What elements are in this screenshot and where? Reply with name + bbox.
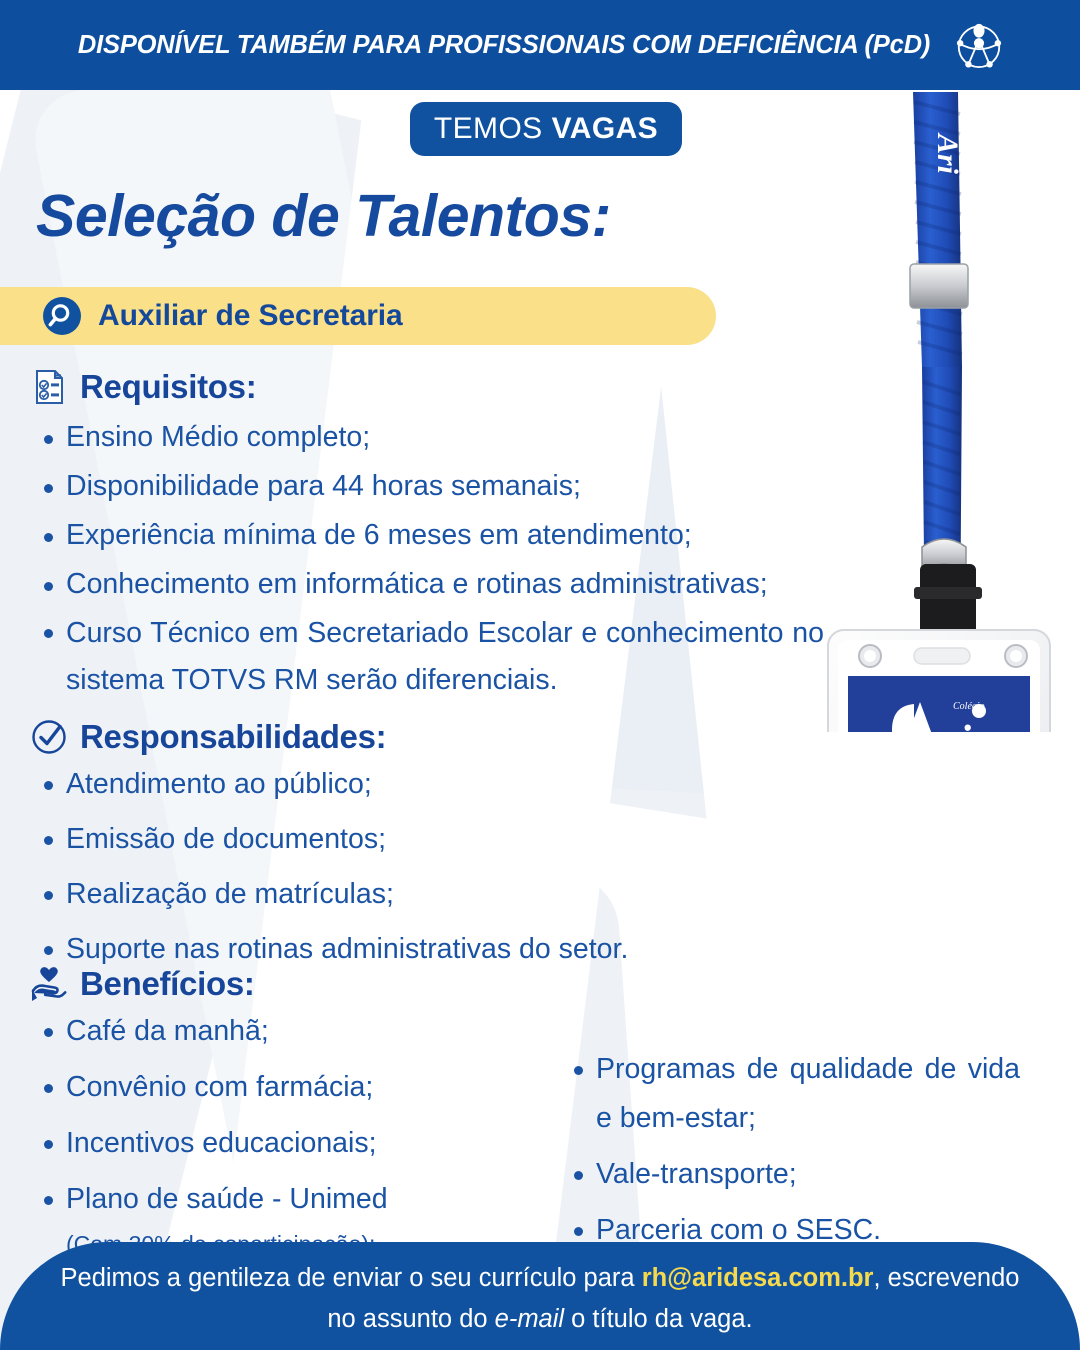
accessibility-icon (956, 21, 1002, 69)
footer-line2-italic: e-mail (495, 1305, 564, 1333)
requisitos-list: Ensino Médio completo; Disponibilidade p… (30, 414, 840, 704)
section-responsabilidades: Responsabilidades: Atendimento ao públic… (30, 718, 810, 980)
beneficios-list-right: Programas de qualidade de vida e bem-est… (560, 1045, 1040, 1255)
requisitos-heading-row: Requisitos: (30, 368, 840, 406)
beneficios-list-left: Café da manhã; Convênio com farmácia; In… (30, 1007, 560, 1224)
badge-card-header (848, 676, 1030, 732)
section-requisitos: Requisitos: Ensino Médio completo; Dispo… (30, 368, 840, 706)
beneficios-columns: Café da manhã; Convênio com farmácia; In… (30, 1007, 1060, 1262)
list-item: Convênio com farmácia; (30, 1063, 560, 1112)
list-item: Café da manhã; (30, 1007, 560, 1056)
footer-line2-after: o título da vaga. (564, 1305, 753, 1333)
beneficios-column-left: Café da manhã; Convênio com farmácia; In… (30, 1007, 560, 1262)
role-bar: Auxiliar de Secretaria (0, 287, 716, 345)
role-title: Auxiliar de Secretaria (98, 299, 403, 333)
footer-line-1: Pedimos a gentileza de enviar o seu curr… (61, 1258, 1020, 1299)
pcd-banner: DISPONÍVEL TAMBÉM PARA PROFISSIONAIS COM… (0, 0, 1080, 90)
ari-logo-top-text: Colégio (953, 701, 985, 712)
checklist-document-icon (30, 368, 68, 406)
badge-slot (914, 648, 970, 664)
list-item: Programas de qualidade de vida e bem-est… (560, 1045, 1040, 1143)
search-icon (42, 296, 82, 336)
footer-line-2: no assunto do e-mail o título da vaga. (327, 1299, 752, 1340)
check-circle-icon (30, 718, 68, 756)
hand-heart-icon (30, 965, 68, 1003)
footer-text-after: , escrevendo (873, 1264, 1019, 1292)
vagas-light-word: TEMOS (434, 112, 543, 146)
lanyard-slider (910, 264, 968, 308)
list-item: Plano de saúde - Unimed (30, 1175, 560, 1224)
footer-text-before: Pedimos a gentileza de enviar o seu curr… (61, 1264, 642, 1292)
list-item: Vale-transporte; (560, 1150, 1040, 1199)
page-title: Seleção de Talentos: (36, 182, 611, 250)
temos-vagas-badge: TEMOS VAGAS (410, 102, 682, 156)
responsabilidades-heading-row: Responsabilidades: (30, 718, 810, 756)
list-item: Disponibilidade para 44 horas semanais; (30, 463, 840, 510)
ari-logo-wordmark: ri (943, 718, 971, 732)
list-item: Incentivos educacionais; (30, 1119, 560, 1168)
requisitos-heading: Requisitos: (80, 368, 256, 406)
beneficios-heading-row: Benefícios: (30, 965, 1060, 1003)
vagas-bold-word: VAGAS (552, 112, 658, 146)
contact-email[interactable]: rh@aridesa.com.br (642, 1264, 874, 1292)
list-item: Conhecimento em informática e rotinas ad… (30, 561, 840, 608)
list-item: Curso Técnico em Secretariado Escolar e … (30, 610, 840, 704)
footer-line2-before: no assunto do (327, 1305, 494, 1333)
id-badge-svg: Ari ri (810, 92, 1078, 732)
beneficios-heading: Benefícios: (80, 965, 255, 1003)
section-beneficios: Benefícios: Café da manhã; Convênio com … (30, 965, 1060, 1262)
responsabilidades-list: Atendimento ao público; Emissão de docum… (30, 760, 810, 973)
lanyard-logo-text: Ari (931, 132, 964, 175)
footer-contact-bar: Pedimos a gentileza de enviar o seu curr… (0, 1242, 1080, 1350)
list-item: Ensino Médio completo; (30, 414, 840, 461)
list-item: Atendimento ao público; (30, 760, 810, 808)
pcd-banner-text: DISPONÍVEL TAMBÉM PARA PROFISSIONAIS COM… (78, 31, 930, 60)
beneficios-column-right: Programas de qualidade de vida e bem-est… (560, 1007, 1040, 1262)
job-posting-poster: DISPONÍVEL TAMBÉM PARA PROFISSIONAIS COM… (0, 0, 1080, 1350)
id-badge-graphic: Ari ri (810, 92, 1078, 732)
badge-clip-arm (914, 587, 982, 599)
list-item: Experiência mínima de 6 meses em atendim… (30, 512, 840, 559)
responsabilidades-heading: Responsabilidades: (80, 718, 386, 756)
list-item: Realização de matrículas; (30, 870, 810, 918)
list-item: Emissão de documentos; (30, 815, 810, 863)
